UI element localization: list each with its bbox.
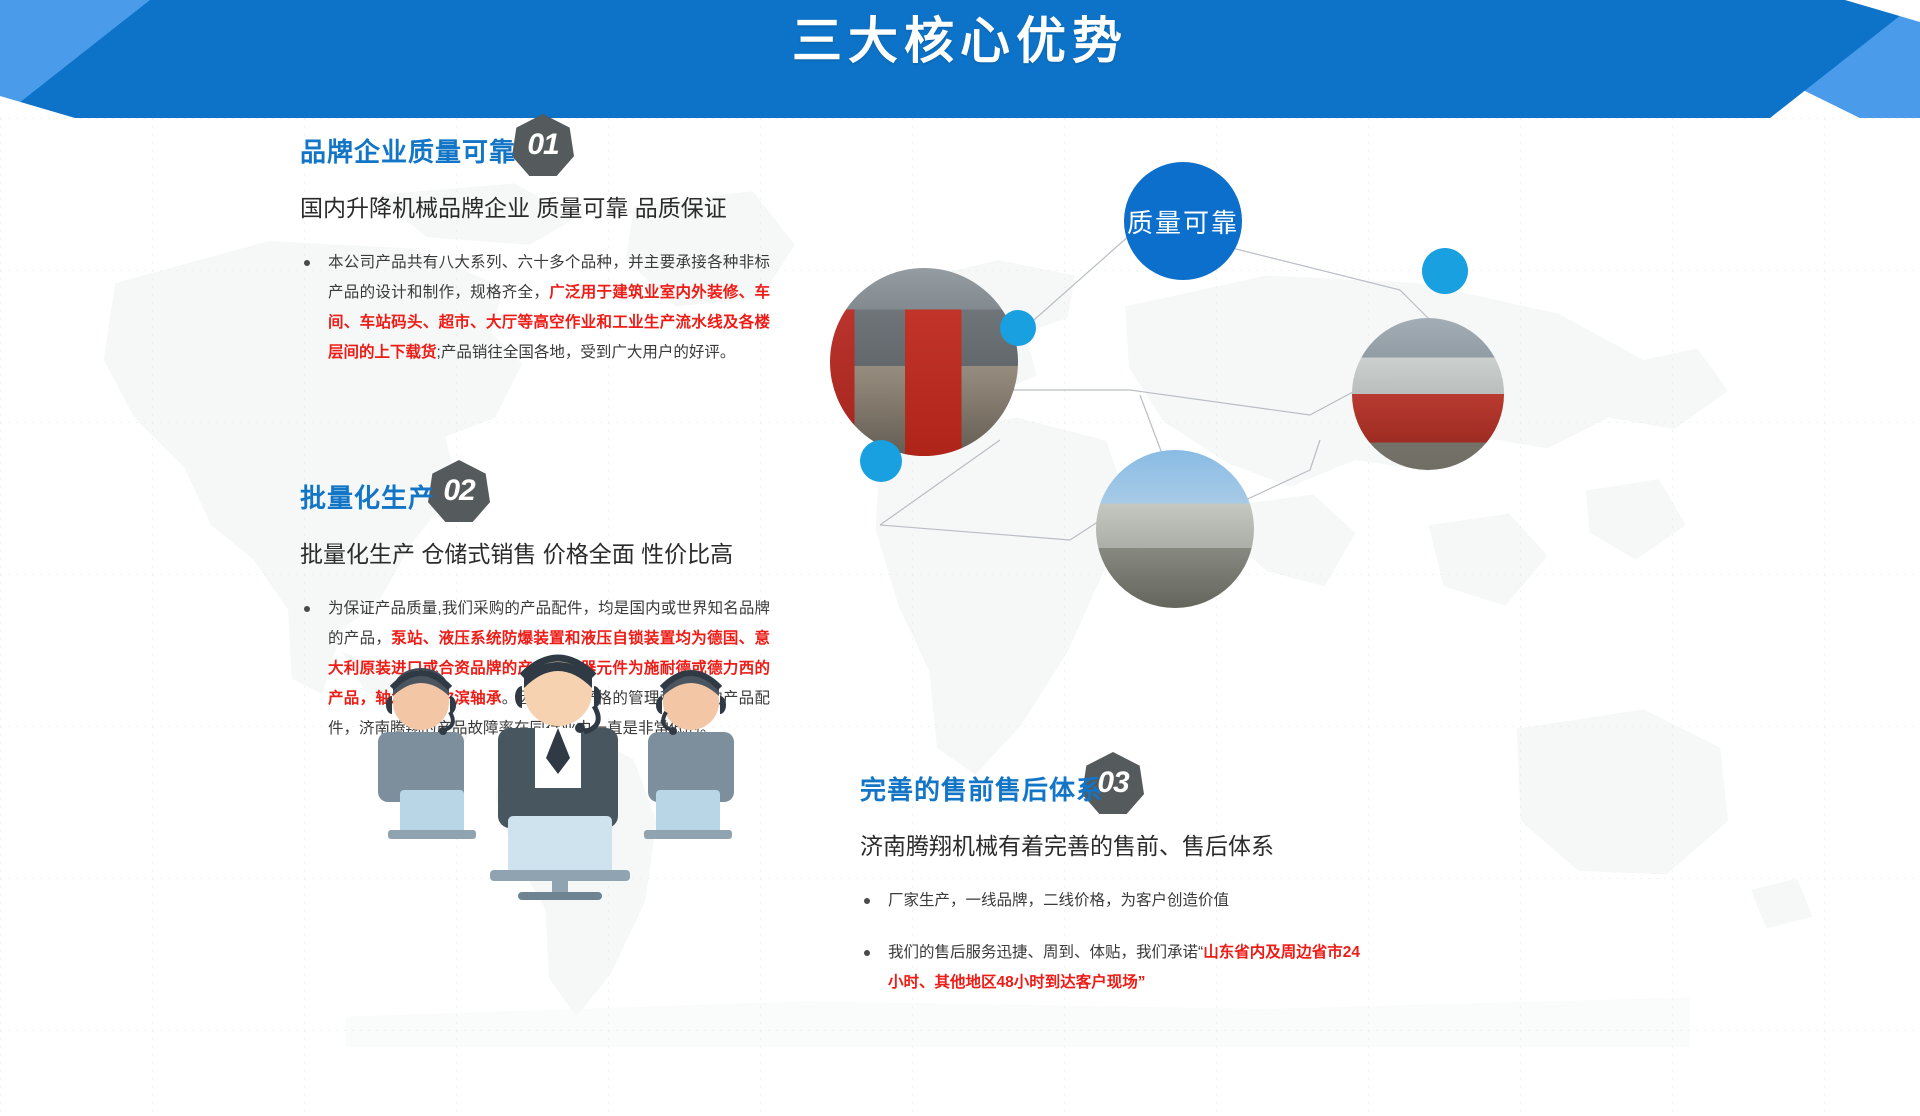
photo-node-workshop xyxy=(830,268,1018,456)
dot-node-top-right xyxy=(1422,248,1468,294)
list-item: 厂家生产，一线品牌，二线价格，为客户创造价值 xyxy=(860,886,1360,916)
section-02-subtitle: 批量化生产 仓储式销售 价格全面 性价比高 xyxy=(300,536,770,572)
section-03-header: 完善的售前售后体系 03 xyxy=(860,770,1360,826)
section-01-subtitle: 国内升降机械品牌企业 质量可靠 品质保证 xyxy=(300,190,770,226)
agent-left xyxy=(378,668,476,839)
section-01-header: 品牌企业质量可靠 01 xyxy=(300,132,770,188)
network-diagram: 质量可靠 xyxy=(840,140,1620,620)
section-02-header: 批量化生产 02 xyxy=(300,478,770,534)
section-03: 完善的售前售后体系 03 济南腾翔机械有着完善的售前、售后体系 厂家生产，一线品… xyxy=(860,770,1360,1020)
section-01: 品牌企业质量可靠 01 国内升降机械品牌企业 质量可靠 品质保证 本公司产品共有… xyxy=(300,132,770,390)
list-item: 我们的售后服务迅捷、周到、体贴，我们承诺“山东省内及周边省市24小时、其他地区4… xyxy=(860,938,1360,998)
section-01-bullets: 本公司产品共有八大系列、六十多个品种，并主要承接各种非标产品的设计和制作，规格齐… xyxy=(300,248,770,368)
section-02-badge: 02 xyxy=(428,460,490,522)
agent-right xyxy=(644,673,734,839)
section-01-badge: 01 xyxy=(512,114,574,176)
photo-overlay xyxy=(830,268,1018,456)
dot-node-bottom-left xyxy=(860,440,902,482)
main-node: 质量可靠 xyxy=(1124,162,1242,280)
section-03-title: 完善的售前售后体系 xyxy=(860,770,1103,810)
list-item: 本公司产品共有八大系列、六十多个品种，并主要承接各种非标产品的设计和制作，规格齐… xyxy=(300,248,770,368)
photo-overlay xyxy=(1352,318,1504,470)
slide-root: 三大核心优势 质量可靠 xyxy=(0,0,1920,1116)
photo-overlay xyxy=(1096,450,1254,608)
banner-body xyxy=(0,0,1920,118)
section-02-title: 批量化生产 xyxy=(300,478,435,518)
agent-center xyxy=(490,658,630,900)
section-01-title: 品牌企业质量可靠 xyxy=(300,132,516,172)
photo-node-storefront xyxy=(1352,318,1504,470)
section-03-bullets: 厂家生产，一线品牌，二线价格，为客户创造价值 我们的售后服务迅捷、周到、体贴，我… xyxy=(860,886,1360,998)
bullet-text-plain: 厂家生产，一线品牌，二线价格，为客户创造价值 xyxy=(888,892,1229,909)
main-node-label: 质量可靠 xyxy=(1127,203,1239,240)
bullet-text-plain: 我们的售后服务迅捷、周到、体贴，我们承诺“ xyxy=(888,944,1203,961)
dot-node-center xyxy=(1000,310,1036,346)
section-03-subtitle: 济南腾翔机械有着完善的售前、售后体系 xyxy=(860,828,1360,864)
call-center-illustration xyxy=(330,640,790,900)
photo-node-yard xyxy=(1096,450,1254,608)
bullet-text-plain-2: ” xyxy=(1138,974,1146,991)
bullet-text-plain-2: ;产品销往全国各地，受到广大用户的好评。 xyxy=(437,344,736,361)
header-banner: 三大核心优势 xyxy=(0,0,1920,118)
